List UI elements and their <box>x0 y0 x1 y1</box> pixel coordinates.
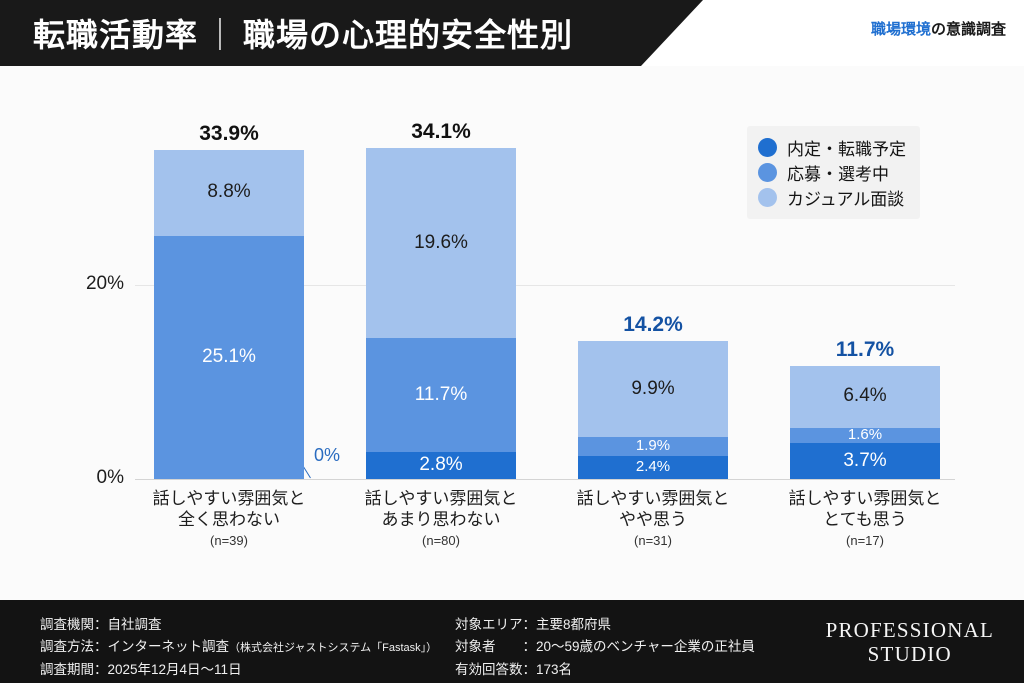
x-axis-category-label: 話しやすい雰囲気と全く思わない(n=39) <box>126 488 332 549</box>
bar-segment-label: 6.4% <box>790 386 940 405</box>
footer-left-line: 調査機関：自社調査 <box>40 614 437 636</box>
bar-segment-label: 19.6% <box>366 233 516 252</box>
legend-color-dot-icon <box>758 138 777 157</box>
footer-right-line: 有効回答数：173名 <box>455 659 755 681</box>
footer-right-value: 20〜59歳のベンチャー企業の正社員 <box>536 639 755 654</box>
bar-segment-label: 25.1% <box>154 347 304 366</box>
page-footer: 調査機関：自社調査調査方法：インターネット調査（株式会社ジャストシステム「Fas… <box>0 600 1024 683</box>
x-axis-sample-size: (n=17) <box>762 533 968 549</box>
footer-column-left: 調査機関：自社調査調査方法：インターネット調査（株式会社ジャストシステム「Fas… <box>40 614 437 681</box>
legend-item[interactable]: 応募・選考中 <box>758 160 906 185</box>
footer-left-label: 調査機関： <box>40 617 108 632</box>
bar-zero-label: 0% <box>314 445 340 466</box>
legend-item-label: 内定・転職予定 <box>787 135 906 160</box>
footer-right-line: 対象エリア：主要8都府県 <box>455 614 755 636</box>
chart-area: 0%20%0%25.1%8.8%33.9%話しやすい雰囲気と全く思わない(n=3… <box>0 66 1024 600</box>
bar-segment-label: 9.9% <box>578 379 728 398</box>
x-axis-category-line: 話しやすい雰囲気と <box>126 488 332 509</box>
footer-right-line: 対象者 ：20〜59歳のベンチャー企業の正社員 <box>455 636 755 658</box>
page-title-main: 転職活動率 <box>33 17 198 53</box>
footer-right-label: 有効回答数： <box>455 662 536 677</box>
header-subtitle: 職場環境の意識調査 <box>871 18 1006 39</box>
bar-total-label: 34.1% <box>366 120 516 144</box>
header-subtitle-accent: 職場環境 <box>871 21 931 38</box>
bar-segment-label: 11.7% <box>366 385 516 404</box>
x-axis-category-label: 話しやすい雰囲気とやや思う(n=31) <box>550 488 756 549</box>
brand-line-2: STUDIO <box>826 642 994 666</box>
footer-left-value: 自社調査 <box>108 617 162 632</box>
x-axis-category-label: 話しやすい雰囲気とあまり思わない(n=80) <box>338 488 544 549</box>
bar-total-label: 14.2% <box>578 313 728 337</box>
bar-segment-label: 2.8% <box>366 455 516 474</box>
x-axis-category-line: 話しやすい雰囲気と <box>762 488 968 509</box>
footer-left-sub: （株式会社ジャストシステム「Fastask」） <box>229 642 437 654</box>
x-axis-sample-size: (n=31) <box>550 533 756 549</box>
legend-color-dot-icon <box>758 188 777 207</box>
footer-right-value: 主要8都府県 <box>536 617 611 632</box>
brand-line-1: PROFESSIONAL <box>826 618 994 642</box>
x-axis-category-line: 話しやすい雰囲気と <box>550 488 756 509</box>
footer-left-label: 調査期間： <box>40 662 108 677</box>
bar-segment-label: 8.8% <box>154 182 304 201</box>
axis-line-zero <box>135 479 955 480</box>
footer-left-value: 2025年12月4日〜11日 <box>108 662 242 677</box>
page-title-sub: 職場の心理的安全性別 <box>243 17 573 53</box>
footer-left-line: 調査期間：2025年12月4日〜11日 <box>40 659 437 681</box>
footer-left-value: インターネット調査 <box>108 639 230 654</box>
x-axis-category-line: 話しやすい雰囲気と <box>338 488 544 509</box>
bar-segment-label: 1.6% <box>790 427 940 442</box>
bar-segment-label: 2.4% <box>578 459 728 474</box>
legend-item-label: カジュアル面談 <box>787 185 904 210</box>
page-header: 転職活動率｜職場の心理的安全性別 職場環境の意識調査 <box>0 0 1024 66</box>
x-axis-category-label: 話しやすい雰囲気ととても思う(n=17) <box>762 488 968 549</box>
page-title: 転職活動率｜職場の心理的安全性別 <box>33 10 573 56</box>
footer-right-value: 173名 <box>536 662 572 677</box>
legend-item-label: 応募・選考中 <box>787 160 889 185</box>
bar-segment-label: 3.7% <box>790 451 940 470</box>
y-axis-tick: 20% <box>52 273 124 295</box>
x-axis-sample-size: (n=80) <box>338 533 544 549</box>
footer-left-label: 調査方法： <box>40 639 108 654</box>
chart-legend: 内定・転職予定応募・選考中カジュアル面談 <box>747 126 920 219</box>
x-axis-category-line: 全く思わない <box>126 509 332 530</box>
bar-total-label: 11.7% <box>790 338 940 362</box>
footer-right-label: 対象エリア： <box>455 617 536 632</box>
y-axis-tick: 0% <box>52 467 124 489</box>
bar-segment-label: 1.9% <box>578 438 728 453</box>
footer-right-label: 対象者 ： <box>455 639 536 654</box>
legend-color-dot-icon <box>758 163 777 182</box>
footer-column-right: 対象エリア：主要8都府県対象者 ：20〜59歳のベンチャー企業の正社員有効回答数… <box>455 614 755 681</box>
legend-item[interactable]: 内定・転職予定 <box>758 135 906 160</box>
x-axis-category-line: あまり思わない <box>338 509 544 530</box>
legend-item[interactable]: カジュアル面談 <box>758 185 906 210</box>
x-axis-sample-size: (n=39) <box>126 533 332 549</box>
brand-logo: PROFESSIONAL STUDIO <box>826 618 994 666</box>
bar-total-label: 33.9% <box>154 122 304 146</box>
footer-left-line: 調査方法：インターネット調査（株式会社ジャストシステム「Fastask」） <box>40 636 437 658</box>
x-axis-category-line: やや思う <box>550 509 756 530</box>
page-title-divider: ｜ <box>204 10 237 56</box>
header-subtitle-plain: の意識調査 <box>931 21 1006 38</box>
x-axis-category-line: とても思う <box>762 509 968 530</box>
